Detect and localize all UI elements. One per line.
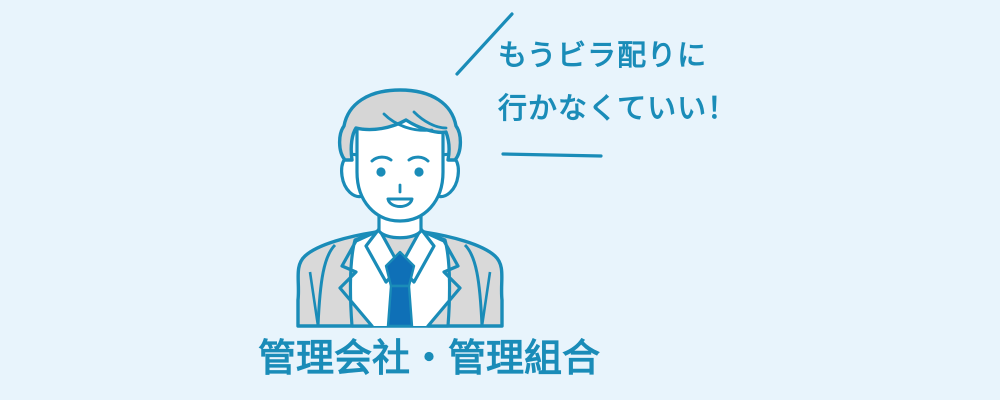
- right-eye: [414, 167, 423, 176]
- necktie: [386, 252, 414, 326]
- speech-text-line-2: 行かなくていい！: [498, 94, 737, 123]
- tie-blade: [388, 286, 412, 326]
- speech-text-line-1: もうビラ配りに: [498, 41, 707, 70]
- businessman-portrait: [298, 90, 502, 326]
- caption-label: 管理会社・管理組合: [258, 339, 600, 377]
- left-eye: [376, 167, 385, 176]
- horizontal-accent-line: [503, 154, 601, 156]
- speech-accent-lines: [457, 14, 601, 156]
- promo-banner: もうビラ配りに 行かなくていい！ 管理会社・管理組合: [0, 0, 1000, 400]
- smiling-mouth: [388, 199, 412, 207]
